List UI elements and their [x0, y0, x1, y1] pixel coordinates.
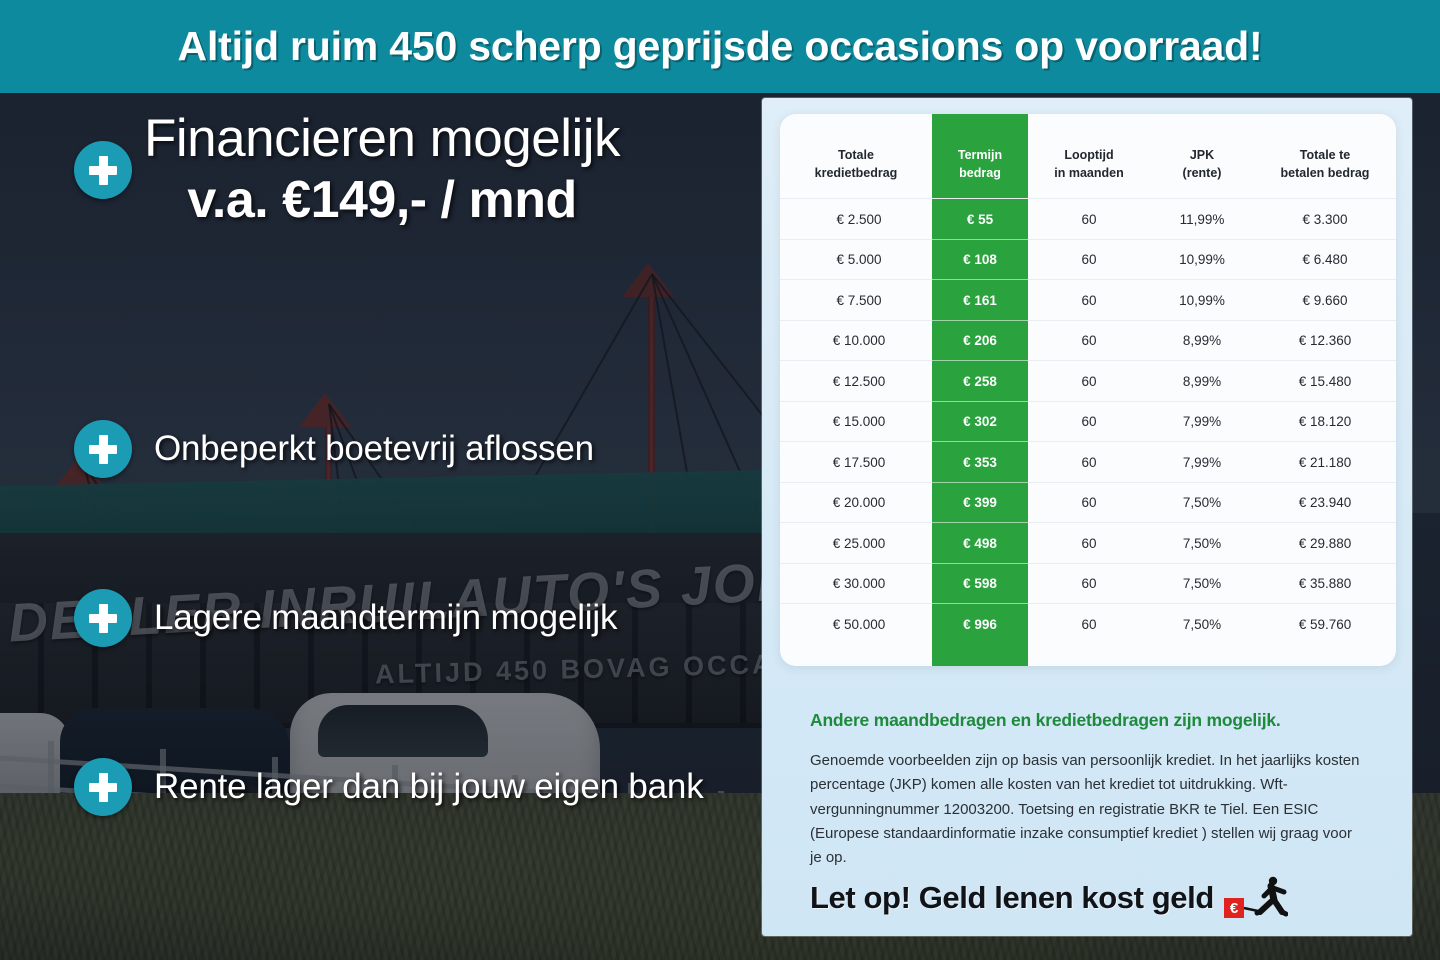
cell-krediet: € 10.000 — [780, 320, 932, 361]
benefit-item-2: Lagere maandtermijn mogelijk — [74, 589, 617, 647]
cell-krediet: € 50.000 — [780, 604, 932, 644]
benefit-label: Lagere maandtermijn mogelijk — [154, 598, 617, 638]
header-line-2: (rente) — [1183, 166, 1222, 180]
cell-termijn: € 258 — [932, 361, 1028, 402]
financing-panel: Totale kredietbedrag Termijn bedrag Loop… — [762, 98, 1412, 936]
table-row: € 25.000€ 498607,50%€ 29.880 — [780, 523, 1396, 564]
cell-looptijd: 60 — [1028, 361, 1150, 402]
disclaimer-block: Andere maandbedragen en kredietbedragen … — [810, 710, 1362, 870]
plus-icon — [74, 758, 132, 816]
header-line-1: Looptijd — [1064, 148, 1113, 162]
cell-termijn: € 598 — [932, 563, 1028, 604]
cell-jpk: 10,99% — [1150, 280, 1254, 321]
column-header-termijn: Termijn bedrag — [932, 114, 1028, 199]
rates-table-card: Totale kredietbedrag Termijn bedrag Loop… — [780, 114, 1396, 666]
plus-icon — [74, 420, 132, 478]
table-row: € 5.000€ 1086010,99%€ 6.480 — [780, 239, 1396, 280]
cell-looptijd: 60 — [1028, 199, 1150, 240]
cell-jpk: 8,99% — [1150, 361, 1254, 402]
cell-jpk: 7,50% — [1150, 563, 1254, 604]
cell-jpk: 7,50% — [1150, 604, 1254, 644]
top-banner: Altijd ruim 450 scherp geprijsde occasio… — [0, 0, 1440, 93]
headline-line-1: Financieren mogelijk — [144, 111, 620, 167]
header-line-1: JPK — [1190, 148, 1214, 162]
promo-banner-image: Altijd ruim 450 scherp geprijsde occasio… — [0, 0, 1440, 960]
cell-totaal: € 6.480 — [1254, 239, 1396, 280]
cell-krediet: € 25.000 — [780, 523, 932, 564]
cell-jpk: 7,99% — [1150, 401, 1254, 442]
headline-block: Financieren mogelijk v.a. €149,- / mnd — [74, 111, 764, 228]
table-row: € 7.500€ 1616010,99%€ 9.660 — [780, 280, 1396, 321]
cell-termijn: € 302 — [932, 401, 1028, 442]
rates-table-body: € 2.500€ 556011,99%€ 3.300€ 5.000€ 10860… — [780, 199, 1396, 644]
column-header-jpk: JPK (rente) — [1150, 114, 1254, 199]
cell-krediet: € 5.000 — [780, 239, 932, 280]
cell-looptijd: 60 — [1028, 604, 1150, 644]
cell-jpk: 7,99% — [1150, 442, 1254, 483]
plus-icon — [74, 589, 132, 647]
legal-warning-text: Let op! Geld lenen kost geld — [810, 880, 1214, 916]
cell-termijn: € 108 — [932, 239, 1028, 280]
header-line-2: kredietbedrag — [815, 166, 898, 180]
headline-text: Financieren mogelijk v.a. €149,- / mnd — [144, 111, 620, 228]
cell-krediet: € 15.000 — [780, 401, 932, 442]
cell-totaal: € 12.360 — [1254, 320, 1396, 361]
ball-and-chain-walking-man-icon: € — [1224, 876, 1288, 920]
rates-table: Totale kredietbedrag Termijn bedrag Loop… — [780, 114, 1396, 644]
table-row: € 15.000€ 302607,99%€ 18.120 — [780, 401, 1396, 442]
cell-jpk: 10,99% — [1150, 239, 1254, 280]
header-line-1: Termijn — [958, 148, 1002, 162]
cell-looptijd: 60 — [1028, 442, 1150, 483]
cell-krediet: € 12.500 — [780, 361, 932, 402]
benefits-column: Financieren mogelijk v.a. €149,- / mnd O… — [0, 93, 762, 960]
table-row: € 2.500€ 556011,99%€ 3.300 — [780, 199, 1396, 240]
cell-termijn: € 996 — [932, 604, 1028, 644]
disclaimer-body: Genoemde voorbeelden zijn op basis van p… — [810, 749, 1362, 870]
cell-termijn: € 498 — [932, 523, 1028, 564]
column-header-looptijd: Looptijd in maanden — [1028, 114, 1150, 199]
cell-looptijd: 60 — [1028, 239, 1150, 280]
benefit-label: Onbeperkt boetevrij aflossen — [154, 429, 594, 469]
cell-looptijd: 60 — [1028, 401, 1150, 442]
cell-termijn: € 55 — [932, 199, 1028, 240]
header-line-2: bedrag — [959, 166, 1001, 180]
cell-looptijd: 60 — [1028, 563, 1150, 604]
disclaimer-title: Andere maandbedragen en kredietbedragen … — [810, 710, 1362, 731]
table-row: € 12.500€ 258608,99%€ 15.480 — [780, 361, 1396, 402]
cell-looptijd: 60 — [1028, 320, 1150, 361]
cell-totaal: € 15.480 — [1254, 361, 1396, 402]
cell-jpk: 8,99% — [1150, 320, 1254, 361]
legal-warning-row: Let op! Geld lenen kost geld € — [810, 876, 1288, 920]
benefit-item-3: Rente lager dan bij jouw eigen bank — [74, 758, 704, 816]
cell-jpk: 11,99% — [1150, 199, 1254, 240]
table-row: € 50.000€ 996607,50%€ 59.760 — [780, 604, 1396, 644]
header-line-2: betalen bedrag — [1281, 166, 1370, 180]
cell-jpk: 7,50% — [1150, 482, 1254, 523]
headline-line-2: v.a. €149,- / mnd — [144, 173, 620, 228]
header-line-1: Totale — [838, 148, 874, 162]
cell-looptijd: 60 — [1028, 482, 1150, 523]
table-row: € 17.500€ 353607,99%€ 21.180 — [780, 442, 1396, 483]
table-row: € 30.000€ 598607,50%€ 35.880 — [780, 563, 1396, 604]
table-row: € 10.000€ 206608,99%€ 12.360 — [780, 320, 1396, 361]
cell-totaal: € 21.180 — [1254, 442, 1396, 483]
cell-totaal: € 18.120 — [1254, 401, 1396, 442]
table-row: € 20.000€ 399607,50%€ 23.940 — [780, 482, 1396, 523]
cell-termijn: € 353 — [932, 442, 1028, 483]
column-header-krediet: Totale kredietbedrag — [780, 114, 932, 199]
cell-krediet: € 2.500 — [780, 199, 932, 240]
benefit-label: Rente lager dan bij jouw eigen bank — [154, 767, 704, 807]
cell-totaal: € 3.300 — [1254, 199, 1396, 240]
cell-looptijd: 60 — [1028, 523, 1150, 564]
cell-totaal: € 29.880 — [1254, 523, 1396, 564]
cell-krediet: € 30.000 — [780, 563, 932, 604]
cell-krediet: € 20.000 — [780, 482, 932, 523]
cell-totaal: € 23.940 — [1254, 482, 1396, 523]
benefit-item-1: Onbeperkt boetevrij aflossen — [74, 420, 594, 478]
header-line-1: Totale te — [1300, 148, 1350, 162]
cell-totaal: € 35.880 — [1254, 563, 1396, 604]
header-line-2: in maanden — [1054, 166, 1123, 180]
cell-termijn: € 206 — [932, 320, 1028, 361]
table-header-row: Totale kredietbedrag Termijn bedrag Loop… — [780, 114, 1396, 199]
cell-totaal: € 59.760 — [1254, 604, 1396, 644]
cell-krediet: € 17.500 — [780, 442, 932, 483]
cell-termijn: € 161 — [932, 280, 1028, 321]
cell-jpk: 7,50% — [1150, 523, 1254, 564]
banner-headline: Altijd ruim 450 scherp geprijsde occasio… — [178, 23, 1263, 70]
cell-totaal: € 9.660 — [1254, 280, 1396, 321]
cell-termijn: € 399 — [932, 482, 1028, 523]
column-header-totaal: Totale te betalen bedrag — [1254, 114, 1396, 199]
cell-krediet: € 7.500 — [780, 280, 932, 321]
cell-looptijd: 60 — [1028, 280, 1150, 321]
plus-icon — [74, 141, 132, 199]
svg-text:€: € — [1230, 900, 1239, 917]
